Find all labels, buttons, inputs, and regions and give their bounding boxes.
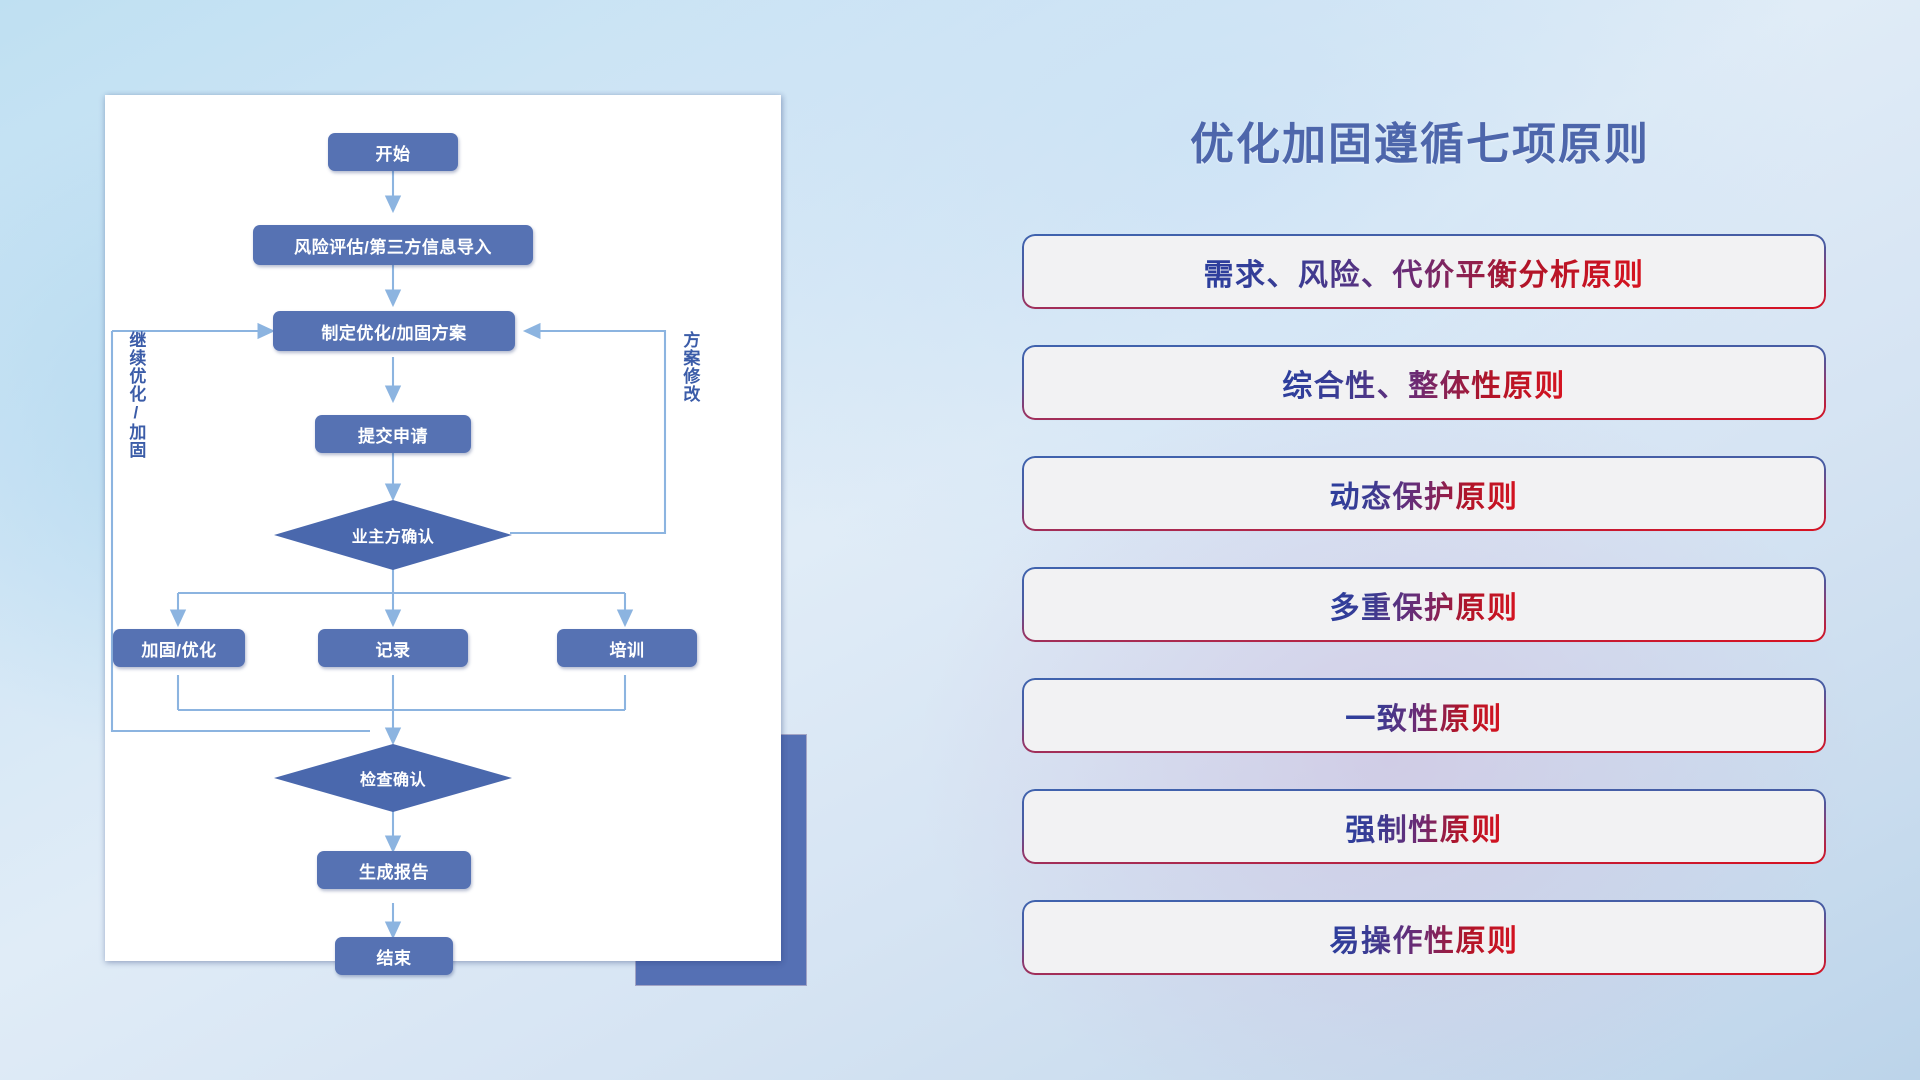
flow-node-label: 生成报告: [359, 858, 429, 883]
principle-item-5[interactable]: 一致性原则: [1024, 680, 1824, 751]
flow-node-record[interactable]: 记录: [318, 629, 468, 667]
principle-item-6[interactable]: 强制性原则: [1024, 791, 1824, 862]
principle-label: 易操作性原则: [1330, 916, 1519, 960]
flowchart-card: 开始 风险评估/第三方信息导入 制定优化/加固方案 提交申请 业主方确认 加固/…: [105, 95, 781, 961]
flow-node-label: 业主方确认: [352, 523, 435, 547]
slide-canvas: 开始 风险评估/第三方信息导入 制定优化/加固方案 提交申请 业主方确认 加固/…: [0, 0, 1920, 1080]
flow-node-end[interactable]: 结束: [335, 937, 453, 975]
principle-label: 多重保护原则: [1330, 583, 1519, 627]
flow-node-label: 风险评估/第三方信息导入: [294, 233, 492, 258]
principle-label: 动态保护原则: [1330, 472, 1519, 516]
principle-item-4[interactable]: 多重保护原则: [1024, 569, 1824, 640]
principle-list: 需求、风险、代价平衡分析原则 综合性、整体性原则 动态保护原则 多重保护原则 一…: [1024, 236, 1824, 1013]
flow-node-submit[interactable]: 提交申请: [315, 415, 471, 453]
flow-node-label: 结束: [377, 944, 412, 969]
flow-node-label: 提交申请: [358, 422, 428, 447]
principles-panel: 优化加固遵循七项原则 需求、风险、代价平衡分析原则 综合性、整体性原则 动态保护…: [1020, 0, 1850, 1080]
edge-label-plan-revision: 方案修改: [681, 331, 698, 403]
flow-node-training[interactable]: 培训: [557, 629, 697, 667]
panel-title: 优化加固遵循七项原则: [1020, 108, 1820, 172]
flow-node-label: 开始: [376, 140, 411, 165]
flow-node-report[interactable]: 生成报告: [317, 851, 471, 889]
principle-label: 综合性、整体性原则: [1282, 361, 1566, 405]
flow-node-owner-confirm[interactable]: 业主方确认: [273, 499, 513, 571]
flow-node-label: 培训: [610, 636, 645, 661]
edge-label-continue-optimize: 继续优化/加固: [127, 331, 144, 459]
principle-item-2[interactable]: 综合性、整体性原则: [1024, 347, 1824, 418]
flow-node-inspect-confirm[interactable]: 检查确认: [273, 743, 513, 813]
flow-node-label: 制定优化/加固方案: [321, 319, 466, 344]
flow-node-plan[interactable]: 制定优化/加固方案: [273, 311, 515, 351]
principle-label: 需求、风险、代价平衡分析原则: [1204, 250, 1645, 294]
flow-node-label: 加固/优化: [141, 636, 216, 661]
principle-item-1[interactable]: 需求、风险、代价平衡分析原则: [1024, 236, 1824, 307]
flow-node-risk-assessment[interactable]: 风险评估/第三方信息导入: [253, 225, 533, 265]
flow-node-label: 记录: [376, 636, 411, 661]
flow-node-label: 检查确认: [360, 766, 426, 790]
principle-item-7[interactable]: 易操作性原则: [1024, 902, 1824, 973]
principle-item-3[interactable]: 动态保护原则: [1024, 458, 1824, 529]
principle-label: 一致性原则: [1345, 694, 1503, 738]
principle-label: 强制性原则: [1345, 805, 1503, 849]
flow-node-start[interactable]: 开始: [328, 133, 458, 171]
flow-node-reinforce[interactable]: 加固/优化: [113, 629, 245, 667]
